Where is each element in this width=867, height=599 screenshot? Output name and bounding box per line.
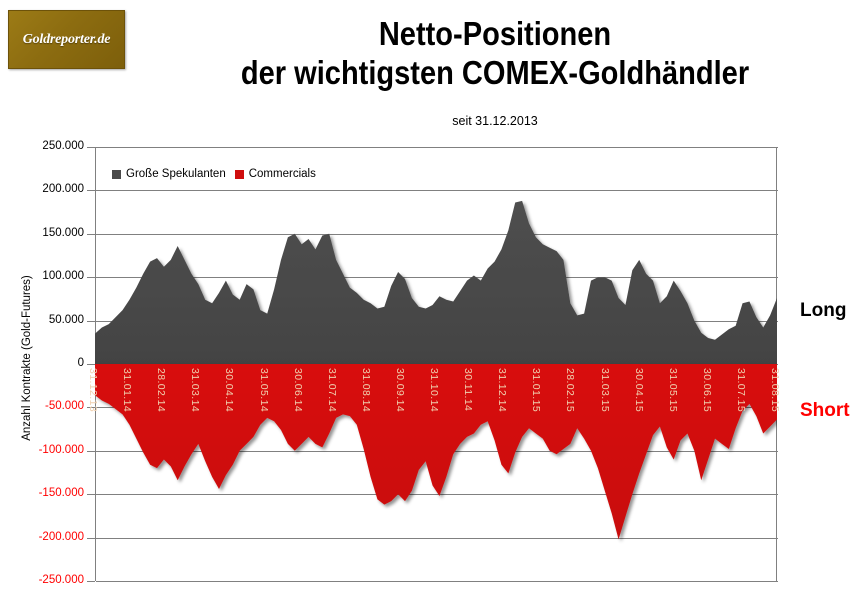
x-axis-tick-label: 31.12.14 [496,368,508,412]
x-axis-tick-label: 31.07.15 [735,368,747,412]
y-axis-tick-label: 0 [0,358,84,370]
y-axis-tick [87,364,95,365]
legend-label-commercials: Commercials [249,168,316,180]
y-axis-tick-label: -100.000 [0,445,84,457]
large-speculants-area [95,201,777,364]
y-axis-tick [87,451,95,452]
series-areas [95,147,777,581]
y-axis-tick-label: -250.000 [0,575,84,587]
y-axis-tick-label: -200.000 [0,532,84,544]
legend-swatch-icon-red [235,170,244,179]
x-axis-tick-label: 31.12.13 [87,368,99,412]
x-axis-tick-label: 31.01.15 [530,368,542,412]
x-axis-tick-label: 28.02.14 [155,368,167,412]
legend-item-large-speculants: Große Spekulanten [112,168,226,180]
x-axis-tick-label: 31.05.14 [258,368,270,412]
x-axis-tick-label: 31.03.15 [599,368,611,412]
y-axis-tick [87,190,95,191]
x-axis-tick-label: 31.07.14 [326,368,338,412]
x-axis-tick-label: 31.08.15 [769,368,781,412]
y-axis-tick [87,321,95,322]
x-axis-tick-label: 30.06.14 [292,368,304,412]
y-axis-tick [87,277,95,278]
y-axis-tick-label: 150.000 [0,228,84,240]
y-axis-tick-label: -150.000 [0,488,84,500]
x-axis-tick-label: 31.10.14 [428,368,440,412]
chart-container: Anzahl Kontrakte (Gold-Futures) 250.0002… [0,0,867,599]
legend-swatch-icon-gray [112,170,121,179]
y-axis-tick [87,234,95,235]
legend-label-large-speculants: Große Spekulanten [126,168,226,180]
y-axis-tick [87,581,95,582]
y-axis-tick-label: -50.000 [0,401,84,413]
y-axis-tick-label: 200.000 [0,184,84,196]
x-axis-tick-label: 30.09.14 [394,368,406,412]
long-annotation: Long [800,300,846,322]
x-axis-tick-label: 28.02.15 [564,368,576,412]
x-axis-tick-label: 31.01.14 [121,368,133,412]
y-axis-tick [87,147,95,148]
y-axis-tick [87,494,95,495]
chart-legend: Große Spekulanten Commercials [112,168,316,180]
y-axis-tick-label: 50.000 [0,315,84,327]
y-axis-tick-label: 250.000 [0,141,84,153]
short-annotation: Short [800,400,850,422]
x-axis-tick-label: 30.04.15 [633,368,645,412]
x-axis-tick-label: 30.04.14 [223,368,235,412]
x-axis-tick-label: 31.05.15 [667,368,679,412]
x-axis-tick-label: 30.11.14 [462,368,474,411]
x-axis-tick-label: 31.08.14 [360,368,372,412]
gridline [96,581,778,582]
y-axis-tick [87,538,95,539]
x-axis-tick-label: 30.06.15 [701,368,713,412]
y-axis-tick-label: 100.000 [0,271,84,283]
x-axis-tick-label: 31.03.14 [189,368,201,412]
legend-item-commercials: Commercials [235,168,316,180]
